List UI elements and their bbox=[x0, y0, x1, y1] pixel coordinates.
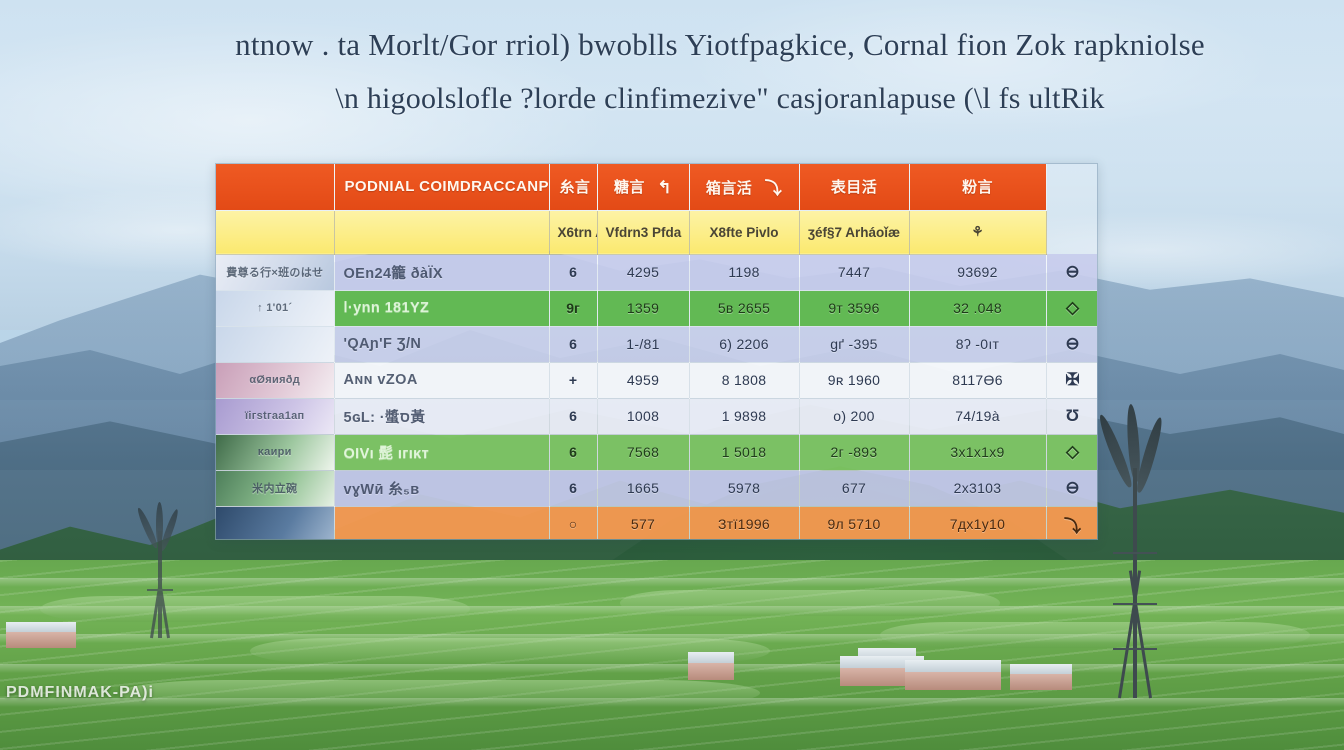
row-status-symbol[interactable]: ⊖ bbox=[1046, 470, 1098, 506]
row-metric-3-value: 7447 bbox=[799, 254, 909, 290]
row-thumbnail-cell[interactable] bbox=[216, 506, 334, 540]
row-thumbnail-cell[interactable]: 費尊る行×班のはせ bbox=[216, 254, 334, 290]
header-metric-4-label: 表目活 bbox=[831, 179, 877, 196]
table-row[interactable]: αØяияðдAɴɴ ᴠZOA+49598 18089ʀ 19608117Ө6✠ bbox=[216, 362, 1098, 398]
row-entity-name[interactable]: OIVı 髭 ıгıᴋт bbox=[334, 434, 549, 470]
title-line-2: \n higoolslofle ?lorde clinfimezive" cas… bbox=[130, 72, 1310, 126]
row-metric-4-value: 32 .048 bbox=[909, 290, 1046, 326]
row-metric-3-value: о) 200 bbox=[799, 398, 909, 434]
row-status-symbol[interactable]: ⤵ bbox=[1046, 506, 1098, 540]
row-metric-2-value: 1 9898 bbox=[689, 398, 799, 434]
row-metric-2-value: 1198 bbox=[689, 254, 799, 290]
watermark-text: PDMFINMAK-PA)i bbox=[6, 684, 154, 702]
table-row[interactable]: ↑ 1'01´l·ynn 181YZ9г13595в 26559т 359632… bbox=[216, 290, 1098, 326]
row-entity-name[interactable]: 5ɢL: ·螿ס黃 bbox=[334, 398, 549, 434]
row-entity-name[interactable]: 'QAɲ'F Ʒ/N bbox=[334, 326, 549, 362]
header-symbol-label: 粉言 bbox=[962, 179, 993, 196]
header-row-secondary: X6trn Ararp Vfdrn3 Pfda X8fte Pivlo ʒéf§… bbox=[216, 210, 1098, 254]
row-metric-2-value: 6) 2206 bbox=[689, 326, 799, 362]
row-metric-3-value: 9т 3596 bbox=[799, 290, 909, 326]
village-building-edge bbox=[6, 622, 76, 648]
subheader-metric-1: X6trn Ararp bbox=[549, 210, 597, 254]
transmission-tower-left bbox=[140, 508, 180, 638]
village-building-far-right bbox=[1010, 664, 1072, 690]
thumbnail-image: їігѕtгаа1ап bbox=[216, 399, 334, 434]
row-thumbnail-cell[interactable]: κаири bbox=[216, 434, 334, 470]
row-metric-1-value: 4295 bbox=[597, 254, 689, 290]
page-title: ntnow . ta Morlt/Gor rriol) bwoblls Yiot… bbox=[130, 18, 1310, 126]
row-thumbnail-cell[interactable]: αØяияðд bbox=[216, 362, 334, 398]
row-metric-3-value: ɡґ -395 bbox=[799, 326, 909, 362]
row-metric-4-value: 8117Ө6 bbox=[909, 362, 1046, 398]
header-metric-2-label: 糖言 bbox=[614, 179, 645, 196]
row-metric-1-value: 1-/81 bbox=[597, 326, 689, 362]
table-row[interactable]: їігѕtгаа1ап5ɢL: ·螿ס黃610081 9898о) 20074/… bbox=[216, 398, 1098, 434]
row-entity-name[interactable] bbox=[334, 506, 549, 540]
row-metric-1-value: 4959 bbox=[597, 362, 689, 398]
row-index-value: + bbox=[549, 362, 597, 398]
thumbnail-image: 費尊る行×班のはせ bbox=[216, 255, 334, 290]
row-status-symbol[interactable]: ◇ bbox=[1046, 290, 1098, 326]
row-index-value: ○ bbox=[549, 506, 597, 540]
subheader-metric-3-label: X8fte Pivlo bbox=[709, 225, 778, 240]
row-status-symbol[interactable]: ⊖ bbox=[1046, 326, 1098, 362]
header-metric-1-label: 糸言 bbox=[560, 179, 591, 196]
row-entity-name[interactable]: l·ynn 181YZ bbox=[334, 290, 549, 326]
row-metric-3-value: 677 bbox=[799, 470, 909, 506]
header-metric-2[interactable]: 糖言 ↰ bbox=[597, 164, 689, 210]
subheader-metric-2: Vfdrn3 Pfda bbox=[597, 210, 689, 254]
title-line-1: ntnow . ta Morlt/Gor rriol) bwoblls Yiot… bbox=[130, 18, 1310, 72]
table-row[interactable]: 米内立碗ᴠɣWӣ 糸₅в6166559786772х3103⊖ bbox=[216, 470, 1098, 506]
row-entity-name[interactable]: ᴠɣWӣ 糸₅в bbox=[334, 470, 549, 506]
row-metric-3-value: 9ʀ 1960 bbox=[799, 362, 909, 398]
thumbnail-image bbox=[216, 507, 334, 541]
header-metric-3-label: 箱言活 bbox=[706, 180, 752, 197]
transmission-tower-main bbox=[1100, 418, 1170, 698]
table-body: 費尊る行×班のはせOEn24籠 ðàÏX642951198744793692⊖↑… bbox=[216, 254, 1098, 540]
leaf-icon: ⚘ bbox=[971, 224, 983, 239]
subheader-symbol: ⚘ bbox=[909, 210, 1046, 254]
row-index-value: 6 bbox=[549, 470, 597, 506]
village-building-far-left bbox=[688, 652, 734, 680]
thumbnail-image: 米内立碗 bbox=[216, 471, 334, 506]
row-metric-3-value: 2г -893 bbox=[799, 434, 909, 470]
table-row[interactable]: κаириOIVı 髭 ıгıᴋт675681 50182г -8933х1х1… bbox=[216, 434, 1098, 470]
row-metric-3-value: 9л 5710 bbox=[799, 506, 909, 540]
subheader-metric-3: X8fte Pivlo bbox=[689, 210, 799, 254]
table-row[interactable]: 'QAɲ'F Ʒ/N61-/816) 2206ɡґ -3958ʔ -0ıт⊖ bbox=[216, 326, 1098, 362]
thumbnail-image: ↑ 1'01´ bbox=[216, 291, 334, 326]
row-index-value: 6 bbox=[549, 434, 597, 470]
row-metric-4-value: 3х1х1х9 bbox=[909, 434, 1046, 470]
row-metric-1-value: 1665 bbox=[597, 470, 689, 506]
row-status-symbol[interactable]: ✠ bbox=[1046, 362, 1098, 398]
row-entity-name[interactable]: Aɴɴ ᴠZOA bbox=[334, 362, 549, 398]
row-metric-1-value: 1359 bbox=[597, 290, 689, 326]
header-entity-label: PODNIAL COIMDRACCANP bbox=[345, 178, 549, 195]
row-metric-1-value: 7568 bbox=[597, 434, 689, 470]
table-header: PODNIAL COIMDRACCANP 糸言 ✖ 糖言 ↰ 箱言活 ⤵ 表目活 bbox=[216, 164, 1098, 254]
row-thumbnail-cell[interactable] bbox=[216, 326, 334, 362]
data-table-panel[interactable]: PODNIAL COIMDRACCANP 糸言 ✖ 糖言 ↰ 箱言活 ⤵ 表目活 bbox=[215, 163, 1098, 540]
row-index-value: 6 bbox=[549, 254, 597, 290]
subheader-image bbox=[216, 210, 334, 254]
header-row-primary: PODNIAL COIMDRACCANP 糸言 ✖ 糖言 ↰ 箱言活 ⤵ 表目活 bbox=[216, 164, 1098, 210]
data-table: PODNIAL COIMDRACCANP 糸言 ✖ 糖言 ↰ 箱言活 ⤵ 表目活 bbox=[216, 164, 1098, 540]
header-entity-column[interactable]: PODNIAL COIMDRACCANP bbox=[334, 164, 549, 210]
header-metric-4[interactable]: 表目活 bbox=[799, 164, 909, 210]
row-index-value: 9г bbox=[549, 290, 597, 326]
arrow-up-left-icon: ↰ bbox=[657, 178, 672, 198]
row-metric-4-value: 8ʔ -0ıт bbox=[909, 326, 1046, 362]
thumbnail-image bbox=[216, 327, 334, 362]
row-metric-2-value: Зтї1996 bbox=[689, 506, 799, 540]
row-thumbnail-cell[interactable]: їігѕtгаа1ап bbox=[216, 398, 334, 434]
row-metric-4-value: 93692 bbox=[909, 254, 1046, 290]
row-status-symbol[interactable]: ⊖ bbox=[1046, 254, 1098, 290]
row-thumbnail-cell[interactable]: ↑ 1'01´ bbox=[216, 290, 334, 326]
subheader-entity bbox=[334, 210, 549, 254]
header-symbol-column[interactable]: 粉言 bbox=[909, 164, 1046, 210]
row-metric-2-value: 1 5018 bbox=[689, 434, 799, 470]
header-metric-3[interactable]: 箱言活 ⤵ bbox=[689, 164, 799, 210]
row-metric-4-value: 7дх1у10 bbox=[909, 506, 1046, 540]
table-row[interactable]: 費尊る行×班のはせOEn24籠 ðàÏX642951198744793692⊖ bbox=[216, 254, 1098, 290]
arrow-down-icon: ⤵ bbox=[765, 174, 782, 199]
row-metric-2-value: 8 1808 bbox=[689, 362, 799, 398]
row-status-symbol[interactable]: ◇ bbox=[1046, 434, 1098, 470]
subheader-metric-1-label: X6trn Ararp bbox=[558, 225, 598, 240]
row-metric-2-value: 5в 2655 bbox=[689, 290, 799, 326]
village-building-right bbox=[905, 660, 1001, 690]
subheader-metric-4: ʒéf§7 Arháoǐæ bbox=[799, 210, 909, 254]
thumbnail-image: κаири bbox=[216, 435, 334, 470]
row-metric-2-value: 5978 bbox=[689, 470, 799, 506]
subheader-metric-4-label: ʒéf§7 Arháoǐæ bbox=[808, 225, 900, 240]
subheader-metric-2-label: Vfdrn3 Pfda bbox=[606, 225, 682, 240]
row-metric-1-value: 1008 bbox=[597, 398, 689, 434]
row-index-value: 6 bbox=[549, 326, 597, 362]
row-metric-4-value: 74/19à bbox=[909, 398, 1046, 434]
row-metric-1-value: 577 bbox=[597, 506, 689, 540]
row-metric-4-value: 2х3103 bbox=[909, 470, 1046, 506]
header-image-column[interactable] bbox=[216, 164, 334, 210]
header-metric-1[interactable]: 糸言 ✖ bbox=[549, 164, 597, 210]
thumbnail-image: αØяияðд bbox=[216, 363, 334, 398]
table-row[interactable]: ○577Зтї19969л 57107дх1у10⤵ bbox=[216, 506, 1098, 540]
row-thumbnail-cell[interactable]: 米内立碗 bbox=[216, 470, 334, 506]
row-entity-name[interactable]: OEn24籠 ðàÏX bbox=[334, 254, 549, 290]
row-index-value: 6 bbox=[549, 398, 597, 434]
row-status-symbol[interactable]: Ʊ bbox=[1046, 398, 1098, 434]
